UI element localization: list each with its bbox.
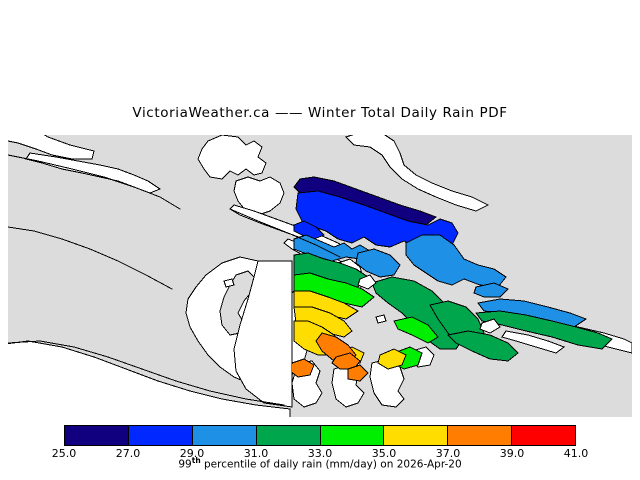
page-title: VictoriaWeather.ca —— Winter Total Daily… bbox=[0, 105, 640, 121]
colorbar-segment-31.0-33.0[interactable] bbox=[257, 426, 321, 445]
colorbar: 25.027.029.031.033.035.037.039.041.0 bbox=[0, 420, 640, 480]
colorbar-segment-29.0-31.0[interactable] bbox=[193, 426, 257, 445]
colorbar-segment-39.0-41.0[interactable] bbox=[512, 426, 575, 445]
caption-prefix: 99 bbox=[178, 459, 191, 471]
land-islet-b bbox=[376, 315, 386, 323]
caption-suffix: percentile of daily rain (mm/day) on 202… bbox=[201, 459, 462, 471]
colorbar-strip[interactable] bbox=[64, 425, 576, 446]
colorbar-segment-37.0-39.0[interactable] bbox=[448, 426, 512, 445]
land-islet-a bbox=[224, 279, 234, 287]
colorbar-segment-27.0-29.0[interactable] bbox=[129, 426, 193, 445]
colorbar-segment-25.0-27.0[interactable] bbox=[65, 426, 129, 445]
map-canvas bbox=[8, 135, 632, 417]
colorbar-segment-33.0-35.0[interactable] bbox=[321, 426, 385, 445]
caption-superscript: th bbox=[192, 456, 201, 465]
weather-map-page: VictoriaWeather.ca —— Winter Total Daily… bbox=[0, 0, 640, 480]
map-layers bbox=[8, 135, 632, 417]
colorbar-segment-35.0-37.0[interactable] bbox=[384, 426, 448, 445]
colorbar-caption: 99th percentile of daily rain (mm/day) o… bbox=[0, 456, 640, 471]
